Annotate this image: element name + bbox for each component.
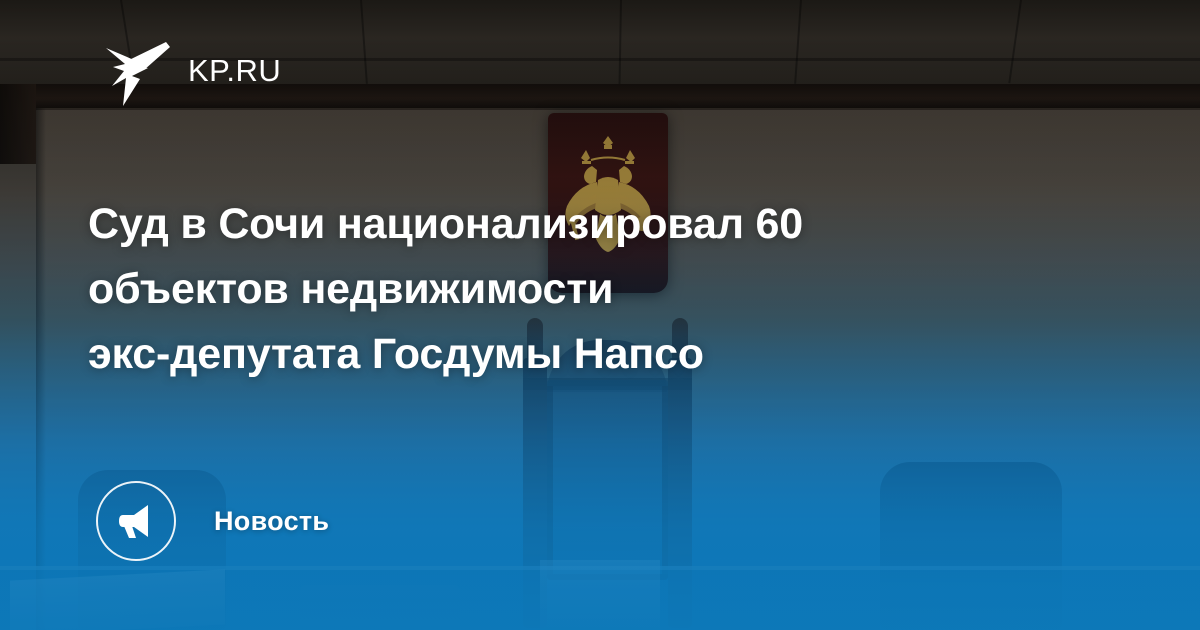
badge-label: Новость [214,506,329,537]
brand-lockup[interactable]: KP.RU [104,34,281,106]
card-content: KP.RU Суд в Сочи национализировал 60 объ… [0,0,1200,630]
headline-line-2: объектов недвижимости [88,257,1098,322]
news-share-card: KP.RU Суд в Сочи национализировал 60 объ… [0,0,1200,630]
megaphone-icon [115,500,157,542]
badge-icon-circle [96,481,176,561]
kp-swallow-bird-icon [104,34,170,106]
category-badge[interactable]: Новость [96,481,329,561]
page-title: Суд в Сочи национализировал 60 объектов … [88,192,1098,387]
headline-line-3: экс-депутата Госдумы Напсо [88,322,1098,387]
headline-line-1: Суд в Сочи национализировал 60 [88,192,1098,257]
brand-name: KP.RU [188,55,281,86]
